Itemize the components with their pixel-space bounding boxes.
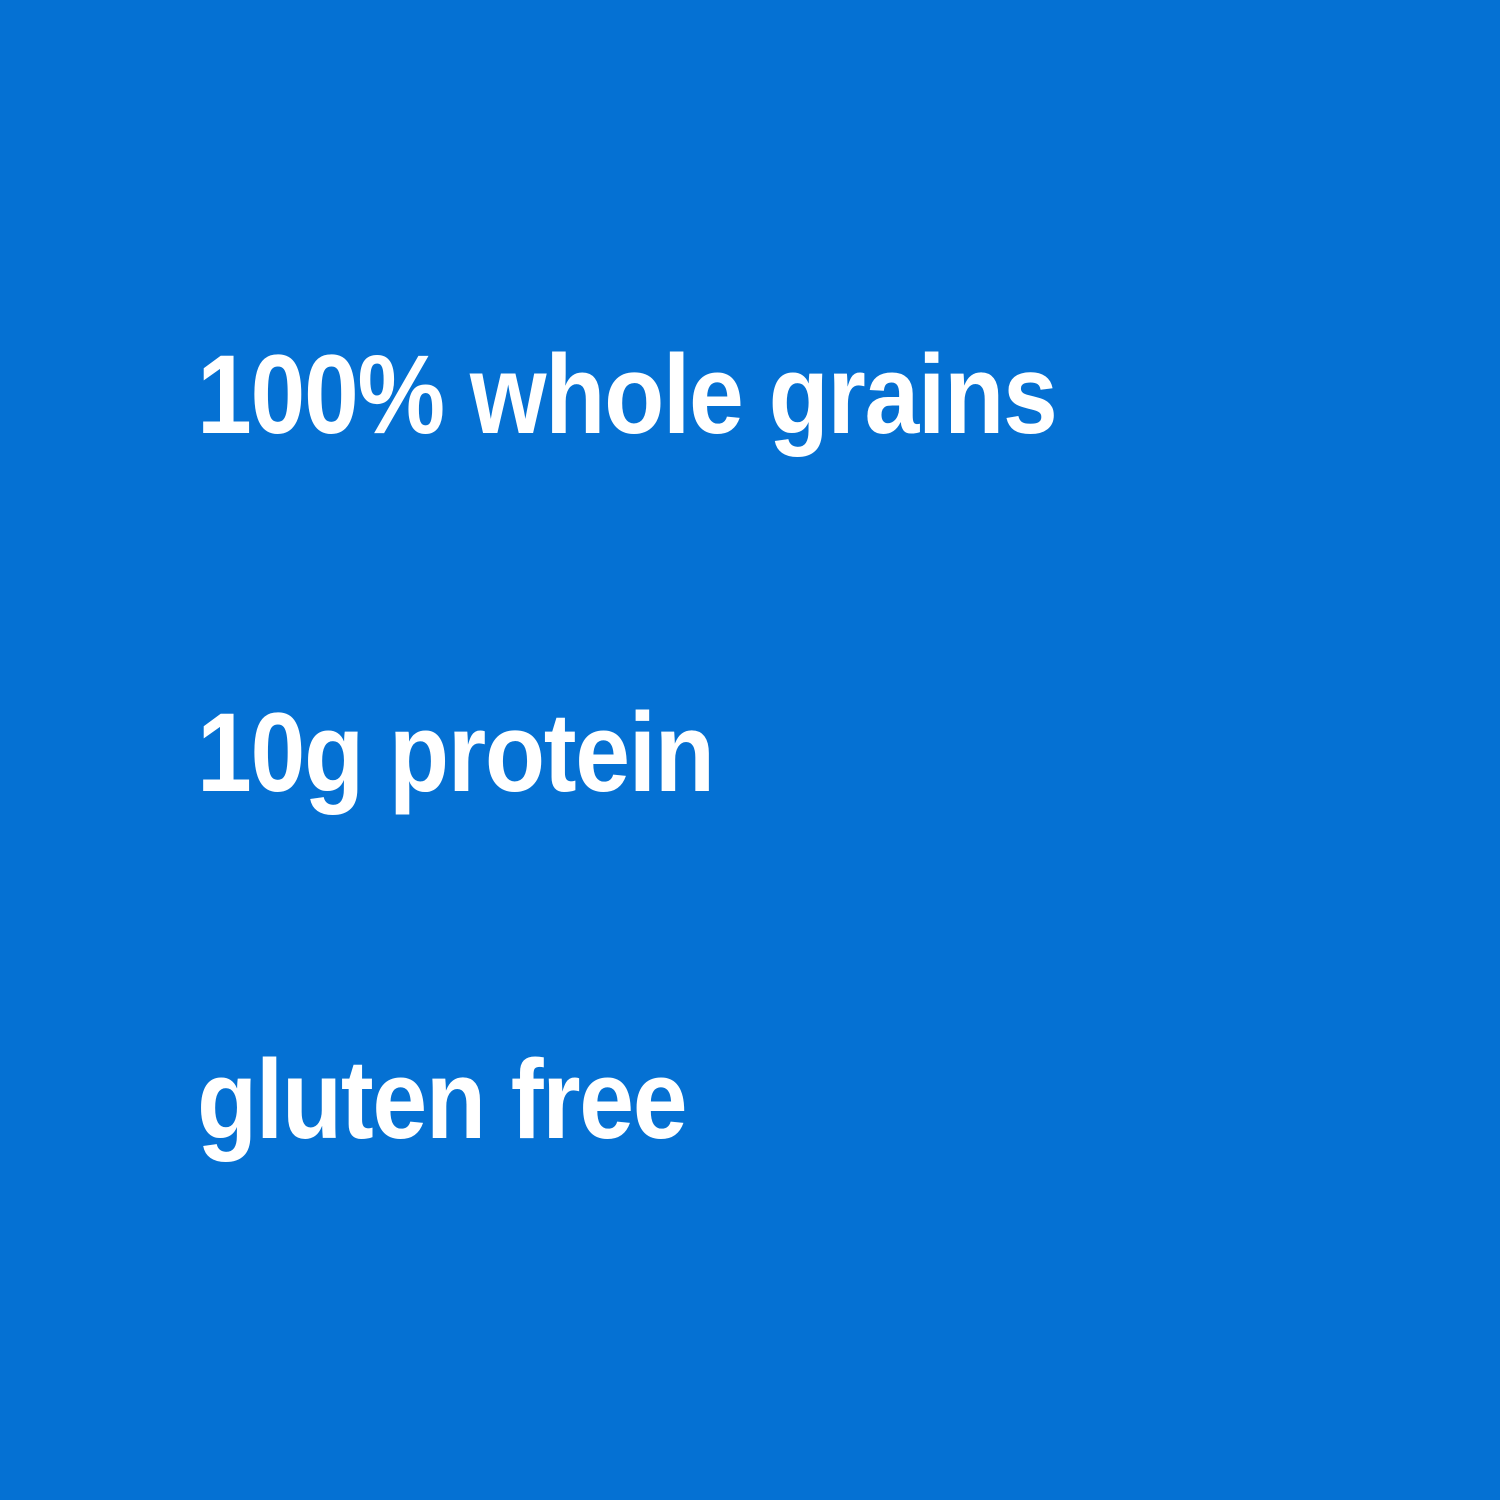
benefit-claims-list: 100% whole grains 10g protein gluten fre… bbox=[197, 0, 1447, 1500]
claim-gluten-free: gluten free bbox=[197, 1044, 1297, 1156]
product-claims-panel: 100% whole grains 10g protein gluten fre… bbox=[0, 0, 1500, 1500]
claim-protein: 10g protein bbox=[197, 697, 1297, 809]
claim-whole-grains: 100% whole grains bbox=[197, 339, 1297, 451]
